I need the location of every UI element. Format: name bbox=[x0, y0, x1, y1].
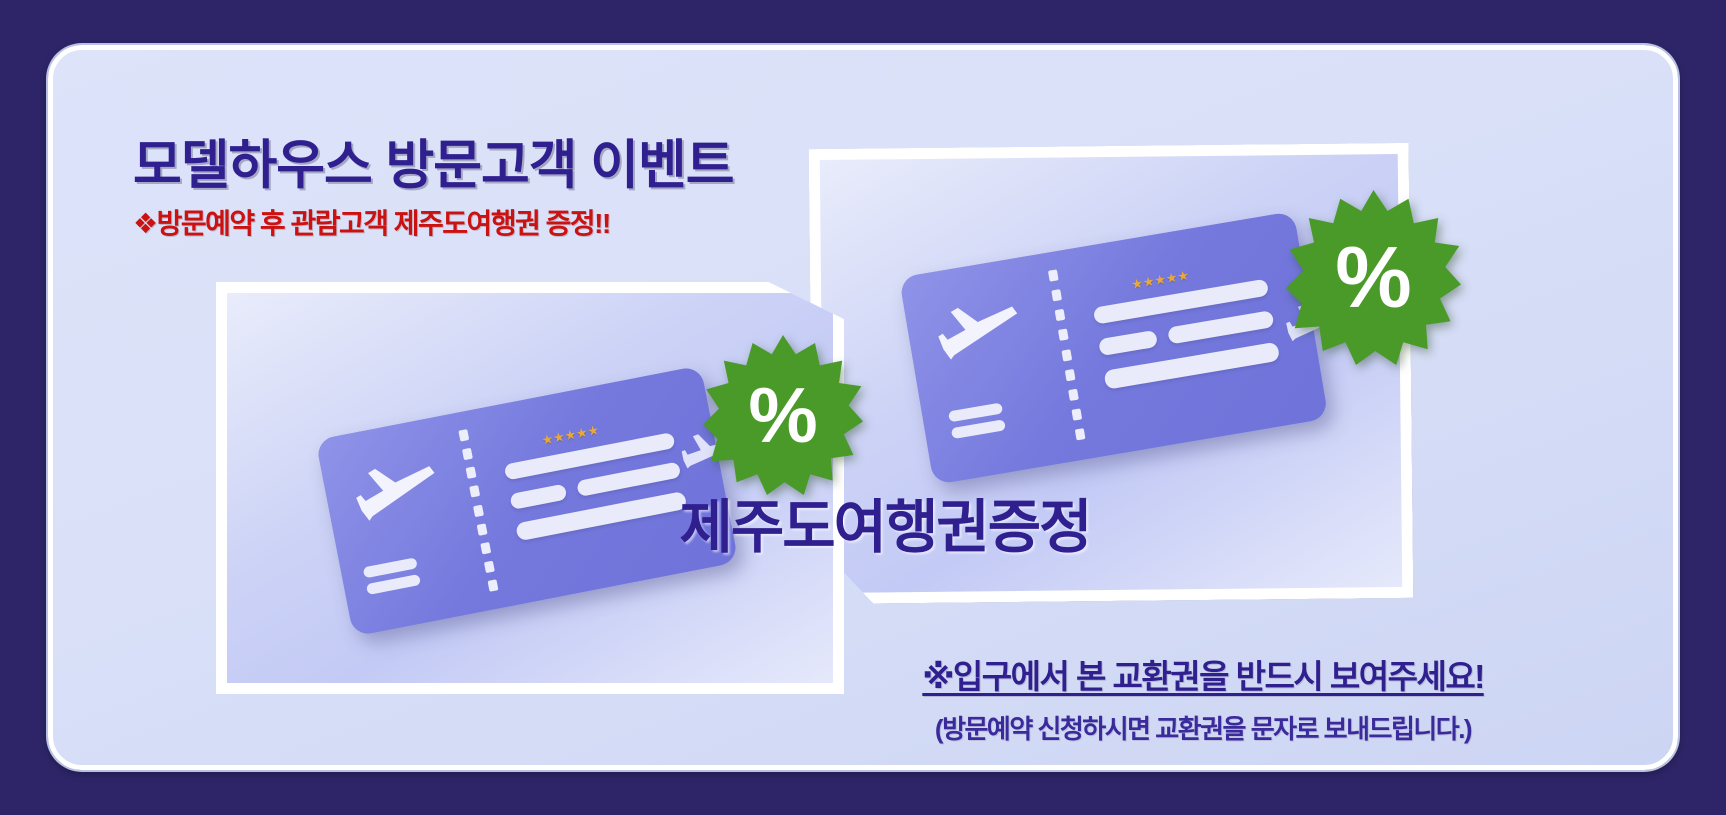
notes-block: ※입구에서 본 교환권을 반드시 보여주세요! (방문예약 신청하시면 교환권을… bbox=[823, 650, 1583, 746]
promo-panel: ★★★★★ % bbox=[48, 45, 1678, 770]
overlay-center-label: 제주도여행권증정 bbox=[680, 495, 1091, 560]
note-secondary: (방문예약 신청하시면 교환권을 문자로 보내드립니다.) bbox=[823, 709, 1583, 746]
percent-starburst-icon: % bbox=[703, 335, 863, 495]
airplane-icon bbox=[927, 282, 1046, 394]
percent-starburst-icon: % bbox=[1286, 190, 1461, 365]
badge-label: % bbox=[748, 376, 817, 454]
promo-banner: ★★★★★ % bbox=[0, 0, 1726, 815]
page-title: 모델하우스 방문고객 이벤트 bbox=[133, 138, 734, 194]
overlay-center-text: 제주도여행권증정 bbox=[53, 480, 1673, 564]
page-subtitle: ❖방문예약 후 관람고객 제주도여행권 증정!! bbox=[133, 202, 734, 242]
badge-label: % bbox=[1335, 235, 1411, 321]
note-primary: ※입구에서 본 교환권을 반드시 보여주세요! bbox=[823, 650, 1583, 698]
airplane-ticket-icon: ★★★★★ bbox=[899, 211, 1328, 485]
headline-block: 모델하우스 방문고객 이벤트 ❖방문예약 후 관람고객 제주도여행권 증정!! bbox=[133, 138, 734, 242]
